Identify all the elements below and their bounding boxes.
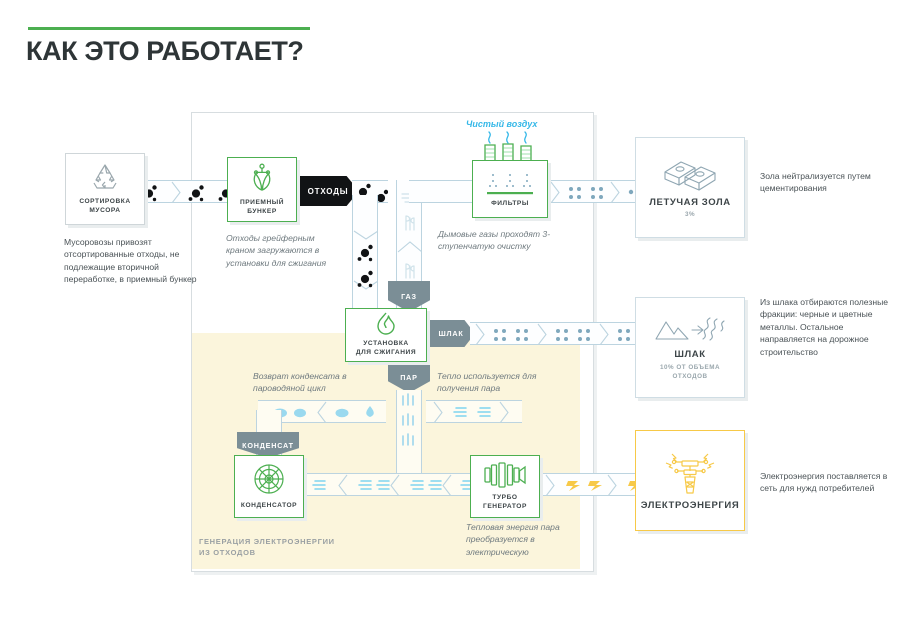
power-tower-icon	[658, 451, 722, 495]
flow-band-gas-to-filters	[409, 180, 479, 203]
flow-band-waste-in	[138, 180, 233, 203]
node-filters-caption: ФИЛЬТРЫ	[491, 200, 529, 209]
node-condenser[interactable]: КОНДЕНСАТОР	[234, 455, 304, 518]
page-title: КАК ЭТО РАБОТАЕТ?	[26, 36, 304, 67]
factory-filter-icon	[483, 171, 537, 197]
note-sorting: Мусоровозы привозят отсортированные отхо…	[64, 236, 199, 286]
output-slag[interactable]: ШЛАК 10% ОТ ОБЪЕМА ОТХОДОВ	[635, 297, 745, 398]
note-heat: Тепло используется для получения пара	[437, 370, 557, 395]
flow-band-steam-to-condenser	[303, 473, 471, 496]
output-flyash-sub: 3%	[685, 210, 695, 219]
note-gas: Дымовые газы проходят 3-ступенчатую очис…	[438, 228, 568, 253]
title-rule	[28, 27, 310, 30]
condenser-wheel-icon	[252, 462, 286, 496]
node-sorting[interactable]: СОРТИРОВКА МУСОРА	[65, 153, 145, 225]
turbine-icon	[483, 462, 527, 488]
output-flyash-caption: ЛЕТУЧАЯ ЗОЛА	[649, 199, 730, 208]
filter-chimneys-icon	[483, 142, 539, 162]
recycle-icon	[88, 163, 122, 191]
flow-band-slag	[470, 322, 640, 345]
node-bunker-caption: ПРИЕМНЫЙ БУНКЕР	[240, 199, 284, 216]
output-power[interactable]: ЭЛЕКТРОЭНЕРГИЯ	[635, 430, 745, 531]
grab-crane-icon	[247, 163, 277, 193]
note-power: Электроэнергия поставляется в сеть для н…	[760, 470, 905, 495]
flow-band-steam-down	[396, 390, 422, 478]
node-condenser-caption: КОНДЕНСАТОР	[241, 502, 297, 511]
note-condensate: Возврат конденсата в пароводяной цикл	[253, 370, 373, 395]
node-turbine-caption: ТУРБО ГЕНЕРАТОР	[483, 494, 527, 511]
node-bunker[interactable]: ПРИЕМНЫЙ БУНКЕР	[227, 157, 297, 222]
node-filters[interactable]: ФИЛЬТРЫ	[472, 160, 548, 218]
note-turbine: Тепловая энергия пара преобразуется в эл…	[466, 521, 586, 558]
flow-band-heat	[426, 400, 522, 423]
tag-waste: ОТХОДЫ	[297, 176, 359, 206]
note-flyash: Зола нейтрализуется путем цементирования	[760, 170, 895, 195]
node-furnace-caption: УСТАНОВКА ДЛЯ СЖИГАНИЯ	[356, 340, 416, 357]
node-furnace[interactable]: УСТАНОВКА ДЛЯ СЖИГАНИЯ	[345, 308, 427, 362]
output-slag-caption: ШЛАК	[674, 351, 705, 360]
flow-band-waste-down	[352, 195, 378, 313]
note-slag: Из шлака отбираются полезные фракции: че…	[760, 296, 900, 358]
node-turbine[interactable]: ТУРБО ГЕНЕРАТОР	[470, 455, 540, 518]
flow-band-ash	[541, 180, 639, 203]
note-bunker: Отходы грейферным краном загружаются в у…	[226, 232, 336, 269]
heat-zone-label: ГЕНЕРАЦИЯ ЭЛЕКТРОЭНЕРГИИ ИЗ ОТХОДОВ	[199, 536, 335, 558]
node-sorting-caption: СОРТИРОВКА МУСОРА	[79, 198, 130, 215]
flow-band-electricity	[538, 473, 639, 496]
output-flyash[interactable]: ЛЕТУЧАЯ ЗОЛА 3%	[635, 137, 745, 238]
output-slag-sub: 10% ОТ ОБЪЕМА ОТХОДОВ	[660, 363, 720, 381]
bricks-icon	[661, 156, 719, 192]
flame-icon	[376, 312, 396, 334]
clean-air-wisps-icon	[486, 131, 536, 145]
output-power-caption: ЭЛЕКТРОЭНЕРГИЯ	[641, 502, 740, 511]
clean-air-label: Чистый воздух	[466, 119, 537, 129]
mountain-road-icon	[654, 314, 726, 344]
